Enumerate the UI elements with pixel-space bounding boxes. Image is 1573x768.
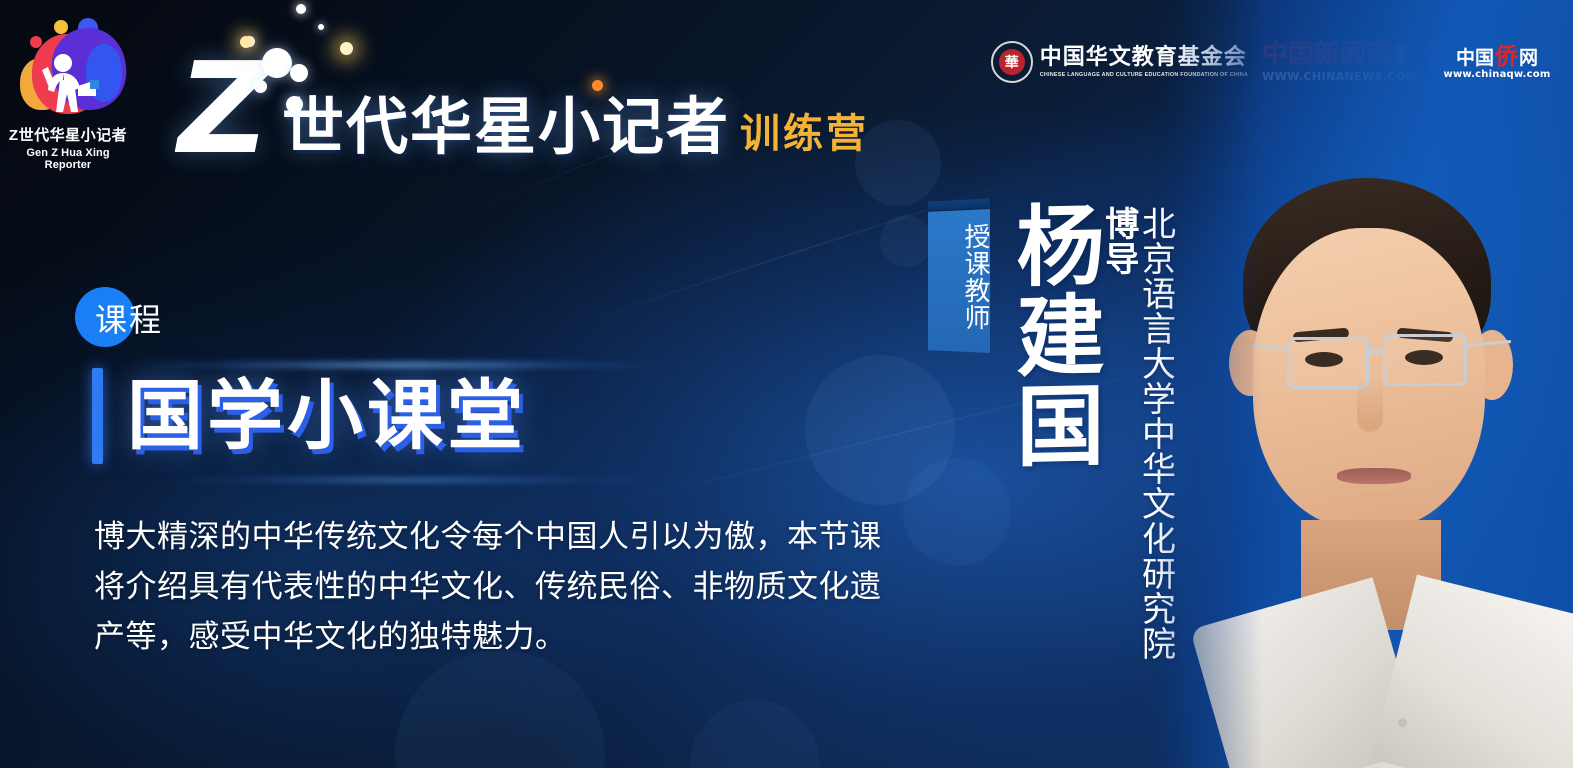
sparkle-icon	[318, 24, 324, 30]
title-glow	[150, 476, 670, 484]
headline: Z 世代华星小记者 训练营	[178, 24, 869, 164]
chinaqw-name-part1: 中国	[1456, 49, 1494, 68]
chinaqw-name-part3: 网	[1519, 49, 1538, 68]
sparkle-icon	[296, 4, 306, 14]
foundation-seal-icon: 華	[991, 41, 1033, 83]
poster-canvas: Z世代华星小记者 Gen Z Hua Xing Reporter Z 世代华星小…	[0, 0, 1573, 768]
headline-main: 世代华星小记者	[282, 96, 730, 158]
teacher-photo	[1153, 0, 1573, 768]
photo-glasses-lens-right	[1383, 334, 1467, 386]
chinaqw-url: www.chinaqw.com	[1444, 69, 1551, 80]
teacher-name: 杨建国	[1000, 199, 1098, 551]
brand-name-en: Gen Z Hua Xing Reporter	[8, 147, 128, 171]
decorative-bubble	[903, 458, 1011, 566]
teacher-title: 博导	[1099, 206, 1139, 276]
photo-mouth	[1337, 468, 1411, 484]
brand-logo: Z世代华星小记者 Gen Z Hua Xing Reporter	[8, 14, 128, 171]
decorative-bubble	[395, 650, 605, 768]
headline-suffix: 训练营	[740, 114, 869, 154]
brand-logo-mark	[8, 14, 128, 122]
sparkle-gold-icon	[340, 42, 353, 55]
decorative-dot-yellow-icon	[54, 20, 68, 34]
ribbon-top-strip	[928, 198, 990, 210]
sparkle-gold-icon	[240, 36, 252, 48]
teacher-ribbon-label: 授课教师	[928, 214, 990, 340]
photo-shirt-button	[1398, 718, 1407, 727]
molecule-node-icon	[290, 64, 308, 82]
decorative-bubble	[690, 700, 820, 768]
z-letter: Z	[178, 46, 269, 172]
chinaqw-name-part2: 侨	[1495, 45, 1518, 68]
course-title: 国学小课堂	[127, 378, 527, 454]
course-badge-label: 课程	[95, 295, 163, 341]
course-title-row: 国学小课堂	[92, 368, 527, 464]
z-letter-mark: Z	[178, 34, 288, 164]
photo-nose	[1357, 378, 1383, 432]
decorative-bubble	[880, 215, 932, 267]
decorative-bubble	[805, 355, 955, 505]
course-description: 博大精深的中华传统文化令每个中国人引以为傲，本节课将介绍具有代表性的中华文化、传…	[94, 512, 884, 663]
brand-name-cn: Z世代华星小记者	[8, 124, 128, 145]
molecule-node-icon	[254, 80, 267, 93]
reporter-figure-microphone-icon	[38, 40, 104, 114]
title-accent-bar	[92, 368, 103, 464]
molecule-node-icon	[286, 96, 303, 113]
foundation-seal-char: 華	[999, 49, 1025, 75]
photo-glasses-bridge	[1369, 350, 1385, 353]
sparkle-orange-icon	[592, 80, 603, 91]
teacher-ribbon: 授课教师	[928, 200, 990, 353]
molecule-node-icon	[262, 48, 292, 78]
course-badge: 课程	[75, 287, 335, 359]
